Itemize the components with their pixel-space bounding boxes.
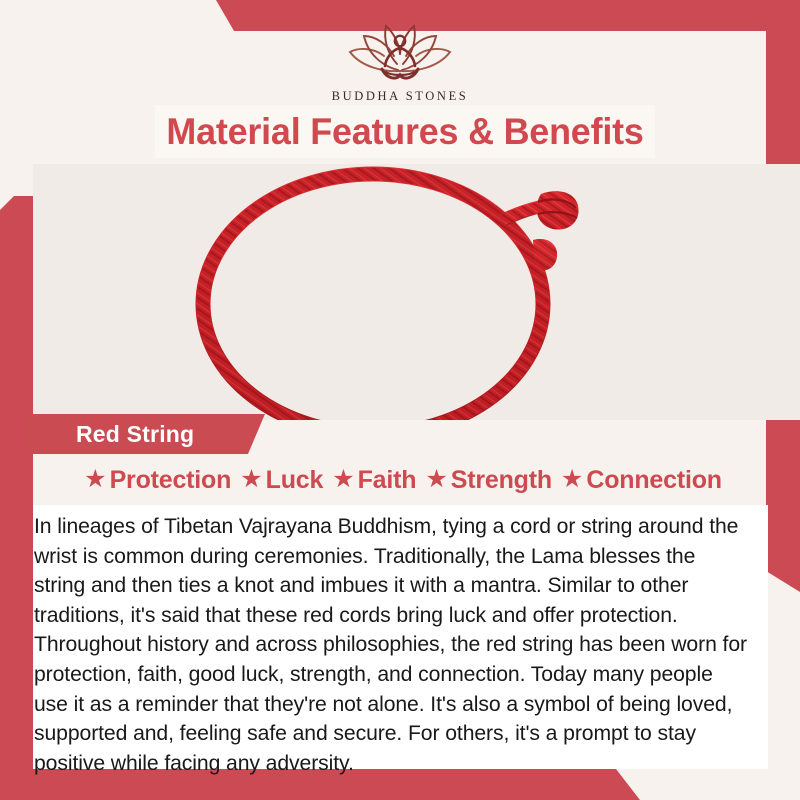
feature-label: Strength bbox=[451, 466, 552, 495]
description-text: In lineages of Tibetan Vajrayana Buddhis… bbox=[33, 505, 757, 778]
feature-label: Luck bbox=[266, 466, 324, 495]
feature-item-strength: ★ Strength bbox=[425, 466, 552, 495]
feature-label: Protection bbox=[110, 466, 232, 495]
star-icon: ★ bbox=[425, 467, 447, 492]
feature-item-faith: ★ Faith bbox=[332, 466, 416, 495]
feature-item-connection: ★ Connection bbox=[561, 466, 722, 495]
poster-canvas: BUDDHA STONES Material Features & Benefi… bbox=[0, 0, 800, 800]
description-panel: In lineages of Tibetan Vajrayana Buddhis… bbox=[33, 505, 768, 769]
star-icon: ★ bbox=[561, 467, 583, 492]
feature-item-luck: ★ Luck bbox=[240, 466, 323, 495]
title-banner: Material Features & Benefits bbox=[155, 105, 655, 158]
lotus-meditation-figure-icon bbox=[328, 14, 472, 86]
red-string-ribbon: Red String bbox=[20, 414, 265, 454]
brand-name: BUDDHA STONES bbox=[0, 89, 800, 104]
star-icon: ★ bbox=[84, 467, 106, 492]
feature-label: Connection bbox=[586, 466, 722, 495]
star-icon: ★ bbox=[332, 467, 354, 492]
feature-list: ★ Protection ★ Luck ★ Faith ★ Strength ★… bbox=[33, 461, 773, 499]
decor-bar-left bbox=[0, 196, 33, 784]
red-string-bracelet-image bbox=[33, 164, 800, 420]
brand-logo: BUDDHA STONES bbox=[0, 14, 800, 104]
feature-label: Faith bbox=[358, 466, 417, 495]
product-photo bbox=[33, 164, 800, 420]
feature-item-protection: ★ Protection bbox=[84, 466, 231, 495]
star-icon: ★ bbox=[240, 467, 262, 492]
ribbon-label: Red String bbox=[76, 421, 194, 448]
page-title: Material Features & Benefits bbox=[166, 111, 643, 153]
